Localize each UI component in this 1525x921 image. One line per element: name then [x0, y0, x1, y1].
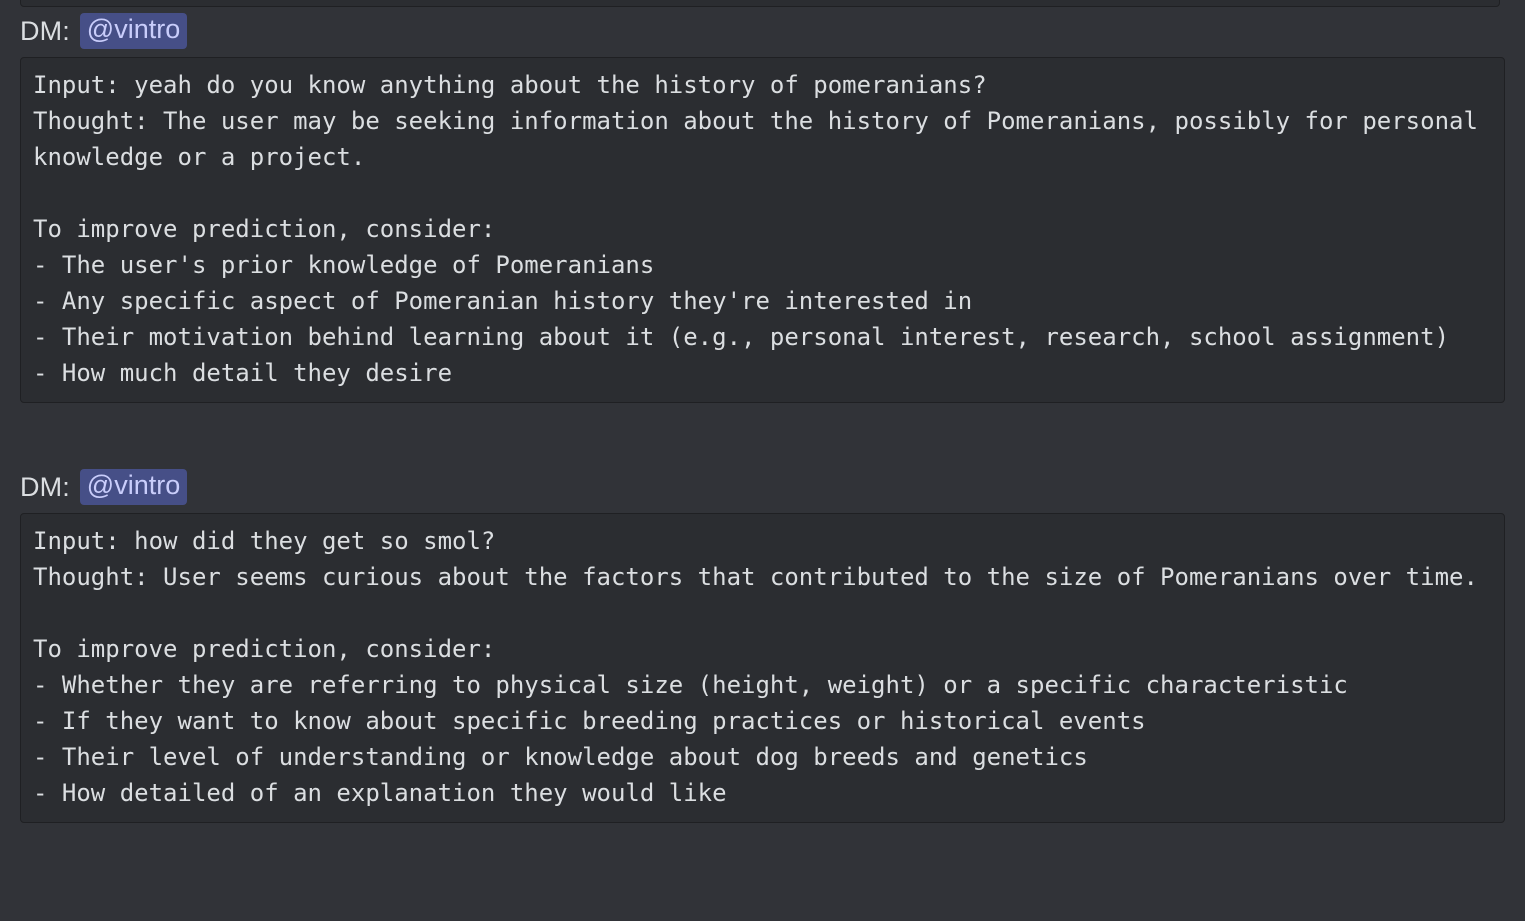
- message-item: DM: @vintro Input: how did they get so s…: [0, 467, 1525, 823]
- message-header: DM: @vintro: [0, 11, 1525, 51]
- message-item: DM: @vintro Input: yeah do you know anyt…: [0, 11, 1525, 403]
- dm-label: DM:: [20, 474, 70, 501]
- code-block: Input: yeah do you know anything about t…: [20, 57, 1505, 403]
- chat-transcript: DM: @vintro Input: yeah do you know anyt…: [0, 0, 1525, 921]
- mention-vintro[interactable]: @vintro: [80, 13, 187, 48]
- mention-vintro[interactable]: @vintro: [80, 469, 187, 504]
- code-block-content: Input: yeah do you know anything about t…: [33, 67, 1492, 391]
- message-header: DM: @vintro: [0, 467, 1525, 507]
- code-block-content: Input: how did they get so smol? Thought…: [33, 523, 1492, 811]
- previous-code-block-sliver: [20, 0, 1500, 7]
- dm-label: DM:: [20, 18, 70, 45]
- code-block: Input: how did they get so smol? Thought…: [20, 513, 1505, 823]
